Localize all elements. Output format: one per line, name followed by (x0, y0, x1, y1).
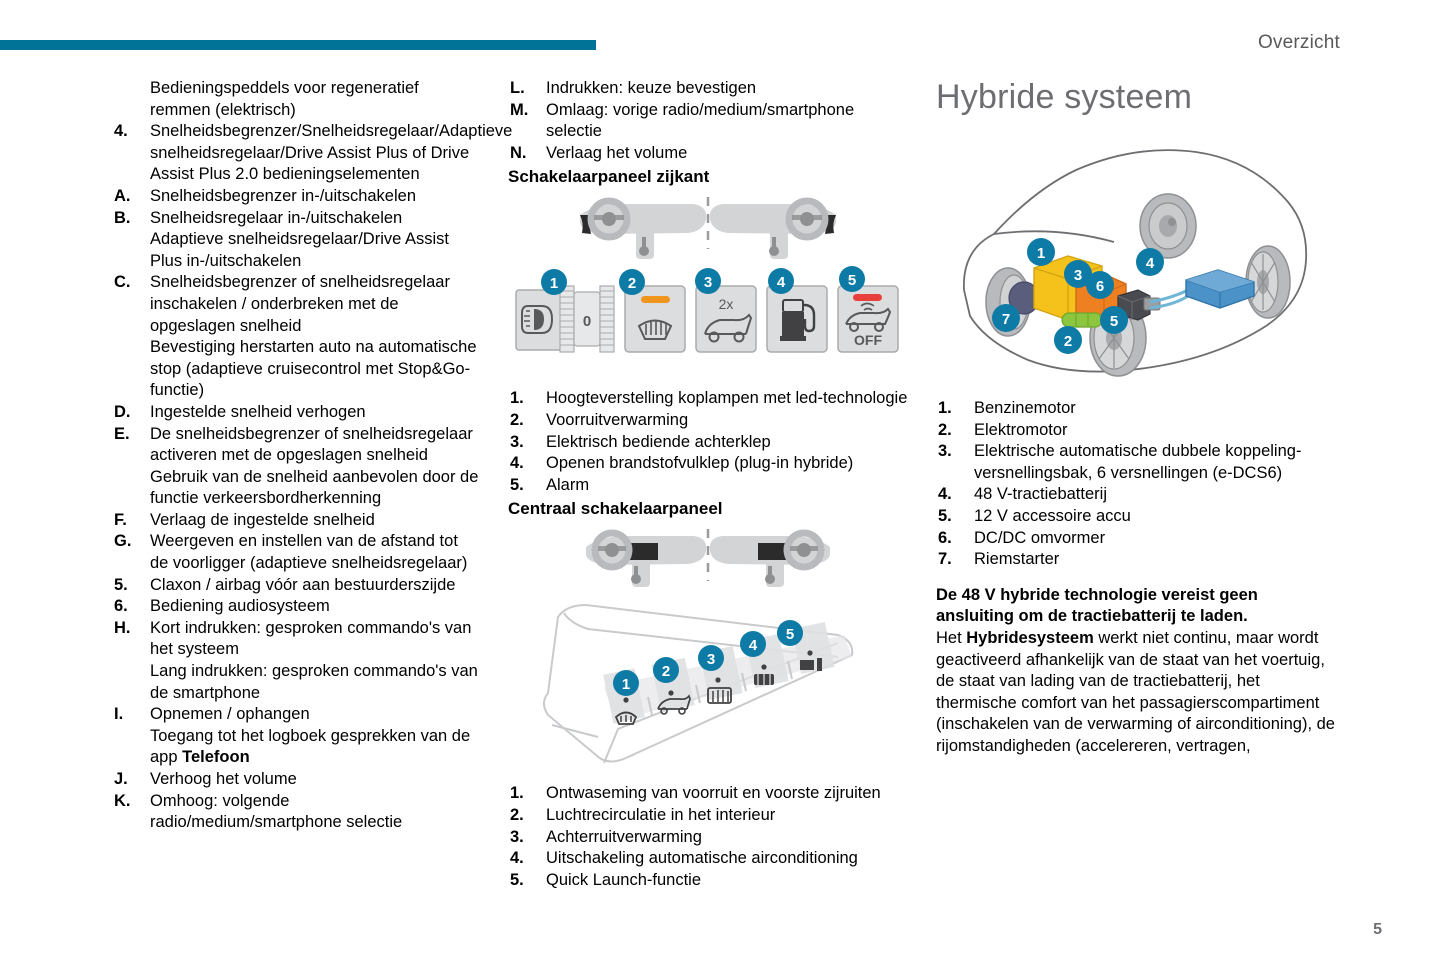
central-panel-legend-key: 1. (508, 783, 546, 805)
central-panel-legend-text: Ontwaseming van voorruit en voorste zijr… (546, 783, 908, 805)
steering-control-text: Snelheidsbegrenzer of snelheidsregelaar … (150, 272, 480, 337)
description-rest-suffix: werkt niet continu, maar wordt geactivee… (936, 629, 1335, 755)
steering-control-text: Verlaag de ingestelde snelheid (150, 510, 480, 532)
steering-control-row: F.Verlaag de ingestelde snelheid (112, 510, 480, 532)
header-accent-bar (0, 40, 596, 50)
side-panel-legend-text: Openen brandstofvulklep (plug-in hybride… (546, 453, 908, 475)
svg-text:5: 5 (1110, 313, 1118, 330)
side-panel-legend-text: Elektrisch bediende achterklep (546, 432, 908, 454)
hybrid-legend-key: 2. (936, 420, 974, 442)
left-column: Bedieningspeddels voor regeneratief remm… (112, 78, 480, 834)
steering-control-row: I.Opnemen / ophangen (112, 704, 480, 726)
svg-text:1: 1 (622, 676, 630, 693)
hybrid-legend-text: 12 V accessoire accu (974, 506, 1336, 528)
page-header-title: Overzicht (1258, 32, 1340, 54)
tailgate-2x-label: 2x (719, 296, 734, 312)
steering-control-text: Indrukken: keuze bevestigen (546, 78, 908, 100)
hybrid-legend-text: Elektrische automatische dubbele koppeli… (974, 441, 1336, 484)
steering-control-row: Lang indrukken: gesproken commando's van… (112, 661, 480, 704)
side-panel-legend-row: 1.Hoogteverstelling koplampen met led-te… (508, 388, 908, 410)
steering-control-text: Toegang tot het logboek gesprekken van d… (150, 726, 480, 769)
central-switch-panel-figure: 1 2 3 4 5 (508, 525, 908, 773)
svg-text:1: 1 (550, 275, 558, 292)
steering-control-key: E. (112, 424, 150, 446)
button-fuel-flap[interactable] (767, 286, 827, 352)
steering-control-key: 6. (112, 596, 150, 618)
central-panel-legend-row: 1.Ontwaseming van voorruit en voorste zi… (508, 783, 908, 805)
button-alarm-off[interactable]: OFF (838, 286, 898, 352)
hybrid-legend-row: 2.Elektromotor (936, 420, 1336, 442)
button-electric-tailgate[interactable]: 2x (696, 286, 756, 352)
description-rest-bold: Hybridesysteem (966, 629, 1093, 647)
steering-control-text: Opnemen / ophangen (150, 704, 480, 726)
hybrid-legend-key: 7. (936, 549, 974, 571)
steering-control-text: De snelheidsbegrenzer of snelheidsregela… (150, 424, 480, 467)
manual-page: Overzicht Bedieningspeddels voor regener… (0, 0, 1445, 963)
steering-control-key: F. (112, 510, 150, 532)
steering-control-row: Adaptieve snelheidsregelaar/Drive Assist… (112, 229, 480, 272)
side-panel-legend-row: 3.Elektrisch bediende achterklep (508, 432, 908, 454)
central-panel-legend-text: Achterruitverwarming (546, 827, 908, 849)
side-panel-legend-row: 5.Alarm (508, 475, 908, 497)
central-panel-legend-text: Quick Launch-functie (546, 870, 908, 892)
steering-control-row: A.Snelheidsbegrenzer in-/uitschakelen (112, 186, 480, 208)
steering-control-key: G. (112, 531, 150, 553)
steering-control-row: Gebruik van de snelheid aanbevolen door … (112, 467, 480, 510)
right-column: Hybride systeem (936, 78, 1336, 758)
central-panel-legend-key: 5. (508, 870, 546, 892)
svg-text:5: 5 (786, 626, 794, 643)
dashboard-lhd-icon (580, 201, 706, 259)
electric-motor-part (1062, 313, 1102, 327)
button-headlamp-height-adjust[interactable]: 0 (516, 286, 614, 352)
steering-control-row: Bedieningspeddels voor regeneratief remm… (112, 78, 480, 121)
steering-control-row: B.Snelheidsregelaar in-/uitschakelen (112, 208, 480, 230)
steering-control-row: K.Omhoog: volgende radio/medium/smartpho… (112, 791, 480, 834)
steering-control-text: Lang indrukken: gesproken commando's van… (150, 661, 480, 704)
hybrid-legend-key: 3. (936, 441, 974, 463)
steering-control-text: Bedieningspeddels voor regeneratief remm… (150, 78, 480, 121)
steering-control-row: 5.Claxon / airbag vóór aan bestuurderszi… (112, 575, 480, 597)
steering-control-key: I. (112, 704, 150, 726)
steering-control-text: Gebruik van de snelheid aanbevolen door … (150, 467, 480, 510)
side-panel-legend-row: 2.Voorruitverwarming (508, 410, 908, 432)
steering-control-text: Snelheidsbegrenzer in-/uitschakelen (150, 186, 480, 208)
side-panel-legend-key: 5. (508, 475, 546, 497)
steering-control-row: J.Verhoog het volume (112, 769, 480, 791)
steering-control-text: Kort indrukken: gesproken commando's van… (150, 618, 480, 661)
middle-column: L.Indrukken: keuze bevestigenM.Omlaag: v… (508, 78, 908, 891)
central-panel-legend-row: 5.Quick Launch-functie (508, 870, 908, 892)
hybrid-legend-key: 4. (936, 484, 974, 506)
svg-text:2: 2 (662, 663, 670, 680)
steering-control-text: Weergeven en instellen van de afstand to… (150, 531, 480, 574)
steering-control-text: Bediening audiosysteem (150, 596, 480, 618)
steering-control-row: H.Kort indrukken: gesproken commando's v… (112, 618, 480, 661)
chapter-title: Hybride systeem (936, 78, 1336, 116)
side-panel-legend-key: 2. (508, 410, 546, 432)
steering-wheel-controls-continued-list: L.Indrukken: keuze bevestigenM.Omlaag: v… (508, 78, 908, 164)
hybrid-legend-key: 1. (936, 398, 974, 420)
steering-control-key: H. (112, 618, 150, 640)
alarm-off-label: OFF (854, 332, 882, 348)
steering-control-row: 4.Snelheidsbegrenzer/Snelheidsregelaar/A… (112, 121, 480, 186)
steering-control-key: C. (112, 272, 150, 294)
side-panel-legend-key: 4. (508, 453, 546, 475)
side-panel-legend-key: 1. (508, 388, 546, 410)
central-panel-legend-row: 4.Uitschakeling automatische airconditio… (508, 848, 908, 870)
central-panel-legend-row: 2.Luchtrecirculatie in het interieur (508, 805, 908, 827)
svg-text:3: 3 (707, 651, 715, 668)
central-panel-legend-key: 2. (508, 805, 546, 827)
steering-control-row: E.De snelheidsbegrenzer of snelheidsrege… (112, 424, 480, 467)
description-rest-prefix: Het (936, 629, 966, 647)
steering-control-key: A. (112, 186, 150, 208)
svg-text:4: 4 (1146, 255, 1155, 272)
hybrid-legend-key: 5. (936, 506, 974, 528)
svg-text:3: 3 (1074, 267, 1082, 284)
hybrid-legend-row: 1.Benzinemotor (936, 398, 1336, 420)
dashboard-lhd-icon (586, 533, 706, 587)
side-panel-legend-text: Hoogteverstelling koplampen met led-tech… (546, 388, 908, 410)
hybrid-legend-row: 6.DC/DC omvormer (936, 528, 1336, 550)
steering-control-row: N.Verlaag het volume (508, 143, 908, 165)
app-name-bold: Telefoon (182, 748, 250, 766)
steering-control-row: Toegang tot het logboek gesprekken van d… (112, 726, 480, 769)
steering-control-key: 4. (112, 121, 150, 143)
central-switch-panel-illustration: 1 2 3 4 5 (508, 525, 908, 773)
headlamp-dial-label: 0 (583, 313, 591, 330)
steering-control-text: Snelheidsbegrenzer/Snelheidsregelaar/Ada… (150, 121, 512, 186)
hybrid-legend-text: Riemstarter (974, 549, 1336, 571)
steering-control-text: Omhoog: volgende radio/medium/smartphone… (150, 791, 480, 834)
hybrid-legend-row: 4.48 V-tractiebatterij (936, 484, 1336, 506)
indicator-amber (641, 296, 670, 303)
svg-text:3: 3 (704, 274, 712, 291)
steering-control-key: D. (112, 402, 150, 424)
steering-control-row: M.Omlaag: vorige radio/medium/smartphone… (508, 100, 908, 143)
central-panel-legend-row: 3.Achterruitverwarming (508, 827, 908, 849)
svg-text:1: 1 (1037, 245, 1045, 262)
steering-control-row: D.Ingestelde snelheid verhogen (112, 402, 480, 424)
steering-control-row: Bevestiging herstarten auto na automatis… (112, 337, 480, 402)
steering-control-key: 5. (112, 575, 150, 597)
side-switch-panel-legend: 1.Hoogteverstelling koplampen met led-te… (508, 388, 908, 496)
steering-control-text: Ingestelde snelheid verhogen (150, 402, 480, 424)
side-panel-legend-key: 3. (508, 432, 546, 454)
hybrid-legend-text: Elektromotor (974, 420, 1336, 442)
page-number: 5 (1373, 921, 1382, 939)
heading-side-switch-panel: Schakelaarpaneel zijkant (508, 166, 908, 187)
steering-control-key: M. (508, 100, 546, 122)
steering-control-text: Bevestiging herstarten auto na automatis… (150, 337, 480, 402)
steering-control-text: Verlaag het volume (546, 143, 908, 165)
steering-control-text: Verhoog het volume (150, 769, 480, 791)
hybrid-legend-text: DC/DC omvormer (974, 528, 1336, 550)
hybrid-system-legend: 1.Benzinemotor2.Elektromotor3.Elektrisch… (936, 398, 1336, 571)
hybrid-legend-row: 5.12 V accessoire accu (936, 506, 1336, 528)
svg-text:4: 4 (749, 637, 758, 654)
svg-text:7: 7 (1002, 311, 1010, 328)
hybrid-legend-row: 7.Riemstarter (936, 549, 1336, 571)
steering-control-key: L. (508, 78, 546, 100)
side-panel-legend-text: Voorruitverwarming (546, 410, 908, 432)
svg-text:4: 4 (777, 274, 786, 291)
steering-control-key: J. (112, 769, 150, 791)
central-switch-panel-legend: 1.Ontwaseming van voorruit en voorste zi… (508, 783, 908, 891)
hybrid-system-description: De 48 V hybride technologie vereist geen… (936, 585, 1336, 758)
central-panel-legend-key: 3. (508, 827, 546, 849)
svg-text:6: 6 (1096, 278, 1104, 295)
hybrid-legend-row: 3.Elektrische automatische dubbele koppe… (936, 441, 1336, 484)
steering-control-row: G.Weergeven en instellen van de afstand … (112, 531, 480, 574)
steering-control-row: L.Indrukken: keuze bevestigen (508, 78, 908, 100)
indicator-red (853, 294, 882, 301)
central-panel-legend-key: 4. (508, 848, 546, 870)
side-switch-panel-figure: 0 (508, 193, 908, 378)
steering-control-row: C.Snelheidsbegrenzer of snelheidsregelaa… (112, 272, 480, 337)
svg-text:5: 5 (848, 272, 856, 289)
hybrid-legend-text: 48 V-tractiebatterij (974, 484, 1336, 506)
central-panel-legend-text: Uitschakeling automatische airconditioni… (546, 848, 908, 870)
steering-control-key: K. (112, 791, 150, 813)
steering-control-text: Adaptieve snelheidsregelaar/Drive Assist… (150, 229, 480, 272)
dashboard-rhd-icon (710, 201, 836, 259)
hybrid-system-figure: 1 2 3 4 5 6 7 (936, 130, 1336, 388)
svg-text:2: 2 (1064, 333, 1072, 350)
side-switch-panel-illustration: 0 (508, 193, 908, 378)
steering-control-row: 6.Bediening audiosysteem (112, 596, 480, 618)
description-lead-bold: De 48 V hybride technologie vereist geen… (936, 586, 1258, 626)
steering-wheel-controls-list: Bedieningspeddels voor regeneratief remm… (112, 78, 480, 834)
hybrid-powertrain-diagram: 1 2 3 4 5 6 7 (936, 130, 1336, 388)
side-panel-legend-row: 4.Openen brandstofvulklep (plug-in hybri… (508, 453, 908, 475)
hybrid-legend-text: Benzinemotor (974, 398, 1336, 420)
steering-control-key: B. (112, 208, 150, 230)
dashboard-rhd-icon (710, 533, 830, 587)
button-windshield-heating[interactable] (625, 286, 685, 352)
hybrid-legend-key: 6. (936, 528, 974, 550)
steering-control-key: N. (508, 143, 546, 165)
svg-text:2: 2 (628, 275, 636, 292)
side-panel-legend-text: Alarm (546, 475, 908, 497)
steering-control-text: Claxon / airbag vóór aan bestuurderszijd… (150, 575, 480, 597)
steering-control-text: Snelheidsregelaar in-/uitschakelen (150, 208, 480, 230)
central-panel-legend-text: Luchtrecirculatie in het interieur (546, 805, 908, 827)
heading-central-switch-panel: Centraal schakelaarpaneel (508, 498, 908, 519)
traction-battery-part (1186, 270, 1254, 308)
steering-control-text: Omlaag: vorige radio/medium/smartphone s… (546, 100, 908, 143)
